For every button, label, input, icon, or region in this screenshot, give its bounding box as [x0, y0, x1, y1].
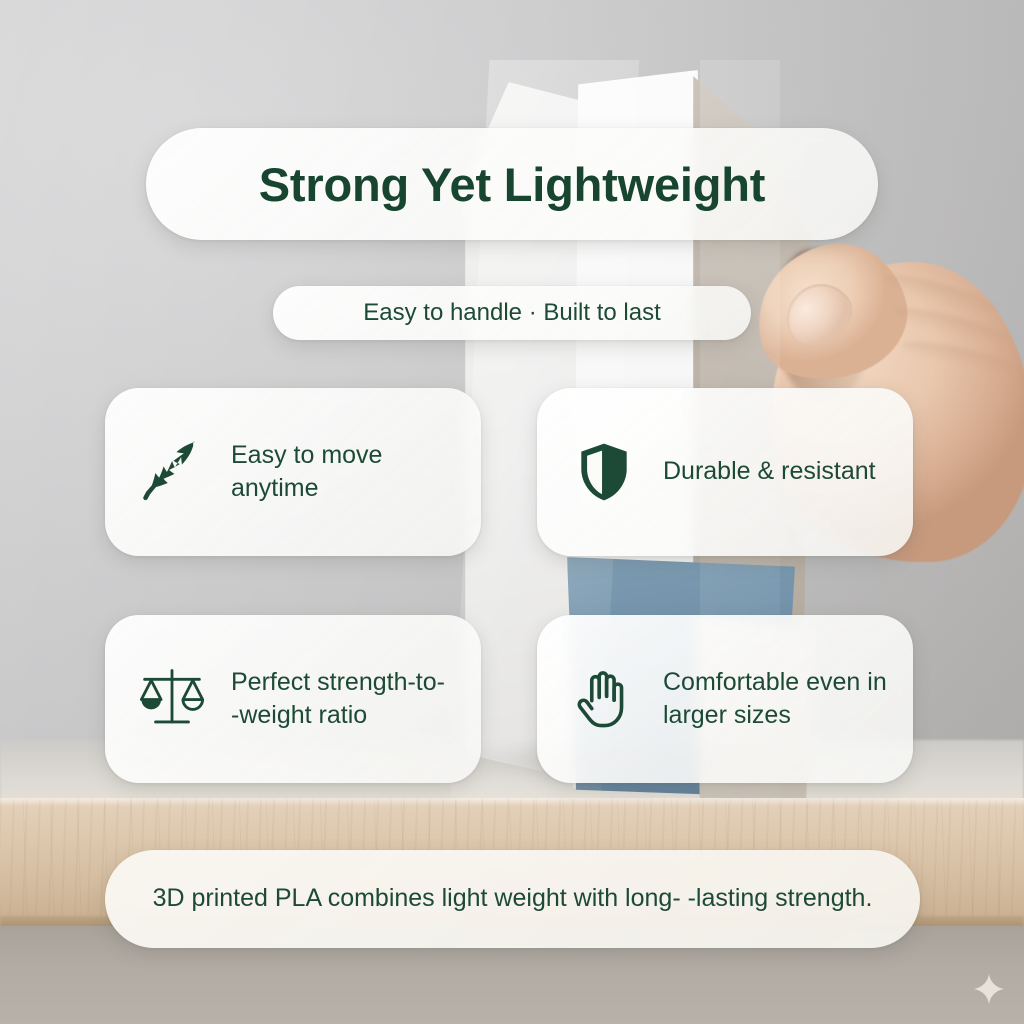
footer-pill: 3D printed PLA combines light weight wit…	[105, 850, 920, 948]
page-title: Strong Yet Lightweight	[259, 157, 766, 212]
feature-label: Comfortable even in larger sizes	[663, 666, 889, 733]
title-pill: Strong Yet Lightweight	[146, 128, 878, 240]
feature-card-comfortable[interactable]: Comfortable even in larger sizes	[537, 615, 913, 783]
feature-card-strength-to-weight[interactable]: Perfect strength-to- -weight ratio	[105, 615, 481, 783]
subtitle-pill: Easy to handle · Built to last	[273, 286, 751, 340]
shelf-highlight	[0, 798, 1024, 806]
balance-scale-icon	[135, 662, 209, 736]
sparkle-icon	[972, 972, 1006, 1006]
feather-icon	[135, 435, 209, 509]
feature-label: Perfect strength-to- -weight ratio	[231, 666, 457, 733]
footer-caption: 3D printed PLA combines light weight wit…	[107, 882, 919, 916]
feature-label: Durable & resistant	[663, 455, 876, 489]
thumbnail	[774, 271, 863, 358]
feature-card-easy-to-move[interactable]: Easy to move anytime	[105, 388, 481, 556]
feature-label: Easy to move anytime	[231, 439, 457, 506]
feature-card-durable[interactable]: Durable & resistant	[537, 388, 913, 556]
infographic-canvas: Strong Yet Lightweight Easy to handle · …	[0, 0, 1024, 1024]
shield-icon	[567, 435, 641, 509]
page-subtitle: Easy to handle · Built to last	[363, 299, 661, 327]
open-hand-icon	[567, 662, 641, 736]
